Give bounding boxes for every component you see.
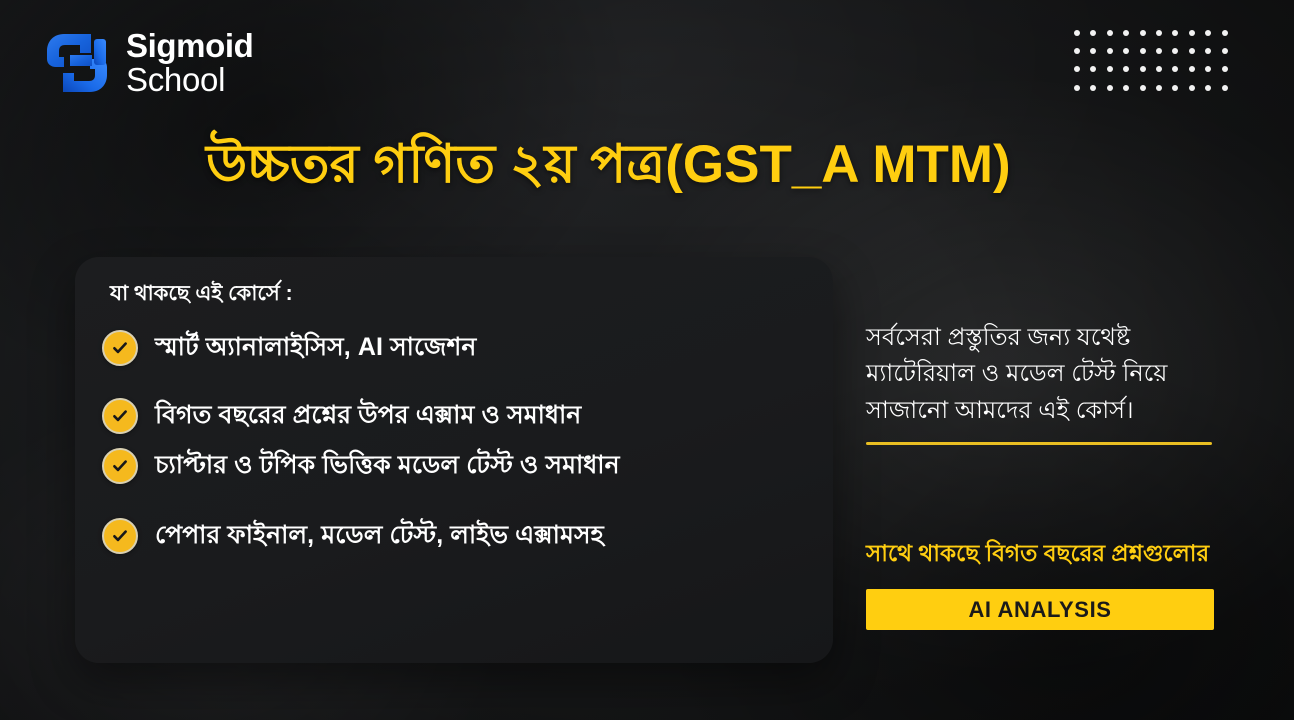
course-description: সর্বসেরা প্রস্তুতির জন্য যথেষ্ট ম্যাটেরি… <box>866 320 1218 429</box>
list-item: পেপার ফাইনাল, মডেল টেস্ট, লাইভ এক্সামসহ <box>102 517 813 555</box>
course-description-block: সর্বসেরা প্রস্তুতির জন্য যথেষ্ট ম্যাটেরি… <box>866 320 1218 445</box>
list-item: চ্যাপ্টার ও টপিক ভিত্তিক মডেল টেস্ট ও সম… <box>102 447 813 485</box>
brand-logo[interactable]: Sigmoid School <box>44 29 253 98</box>
check-circle-icon <box>102 398 138 434</box>
course-features-card: যা থাকছে এই কোর্সে : স্মার্ট অ্যানালাইসি… <box>75 257 833 663</box>
feature-label: স্মার্ট অ্যানালাইসিস, AI সাজেশন <box>155 327 476 370</box>
check-circle-icon <box>102 330 138 366</box>
ai-analysis-button[interactable]: AI ANALYSIS <box>866 589 1214 630</box>
promo-banner: Sigmoid School উচ্চতর গণিত ২য় পত্র(GST_… <box>0 0 1294 720</box>
brand-name-line1: Sigmoid <box>126 29 253 63</box>
feature-label: বিগত বছরের প্রশ্নের উপর এক্সাম ও সমাধান <box>155 395 581 438</box>
feature-list: স্মার্ট অ্যানালাইসিস, AI সাজেশন বিগত বছর… <box>102 329 813 555</box>
page-title: উচ্চতর গণিত ২য় পত্র(GST_A MTM) <box>206 133 1294 198</box>
cta-subheading: সাথে থাকছে বিগত বছরের প্রশ্নগুলোর <box>866 535 1294 574</box>
card-heading: যা থাকছে এই কোর্সে : <box>110 277 293 312</box>
feature-label: চ্যাপ্টার ও টপিক ভিত্তিক মডেল টেস্ট ও সম… <box>155 445 620 488</box>
check-circle-icon <box>102 518 138 554</box>
check-circle-icon <box>102 448 138 484</box>
brand-name-line2: School <box>126 63 253 97</box>
feature-label: পেপার ফাইনাল, মডেল টেস্ট, লাইভ এক্সামসহ <box>155 515 604 558</box>
list-item: স্মার্ট অ্যানালাইসিস, AI সাজেশন <box>102 329 813 367</box>
dot-grid-icon <box>1074 30 1238 103</box>
sigmoid-s-logo-icon <box>44 31 110 95</box>
divider <box>866 442 1212 445</box>
list-item: বিগত বছরের প্রশ্নের উপর এক্সাম ও সমাধান <box>102 397 813 435</box>
